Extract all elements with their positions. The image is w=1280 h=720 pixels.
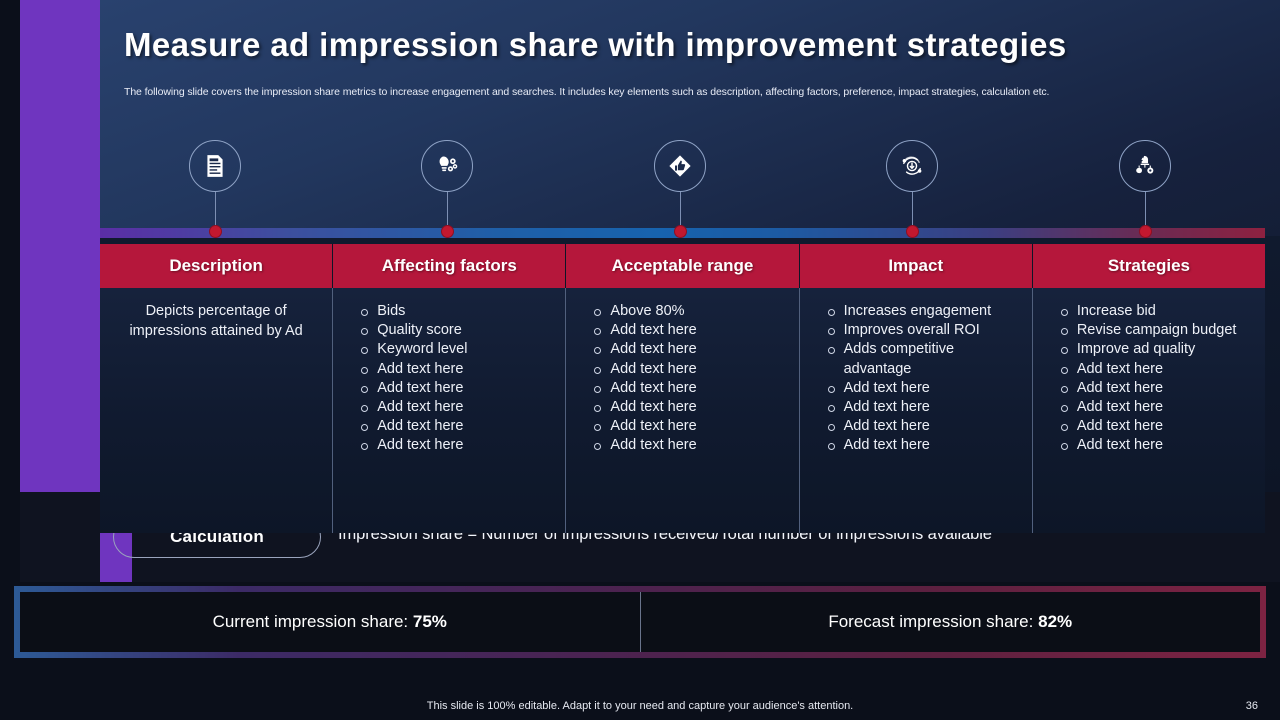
table-header-description: Description [100,244,333,288]
list-item: Revise campaign budget [1061,321,1255,340]
list-item: Bids [361,302,555,321]
chess-strategy-icon [1119,140,1171,192]
list-item: Quality score [361,321,555,340]
stat-forecast-label: Forecast impression share: [828,612,1033,632]
stat-current-impression-share: Current impression share: 75% [20,592,641,652]
impact-list: Increases engagementImproves overall ROI… [810,302,1022,456]
list-item: Add text here [1061,417,1255,436]
timeline-marker-dot [674,225,687,238]
strategies-list: Increase bidRevise campaign budgetImprov… [1043,302,1255,456]
list-item: Add text here [828,436,1022,455]
table-cell-affecting-factors: BidsQuality scoreKeyword levelAdd text h… [333,288,566,533]
table-cell-strategies: Increase bidRevise campaign budgetImprov… [1033,288,1265,533]
table-header-strategies: Strategies [1033,244,1265,288]
list-item: Add text here [594,398,788,417]
icon-node-impact[interactable] [882,140,942,238]
timeline-marker-dot [441,225,454,238]
affecting-factors-list: BidsQuality scoreKeyword levelAdd text h… [343,302,555,456]
lightbulb-gears-icon [421,140,473,192]
page-title: Measure ad impression share with improve… [124,26,1224,64]
list-item: Increases engagement [828,302,1022,321]
stat-current-label: Current impression share: [213,612,409,632]
table-body-row: Depicts percentage of impressions attain… [100,288,1265,533]
list-item: Increase bid [1061,302,1255,321]
icon-stem [215,192,216,228]
list-item: Add text here [594,417,788,436]
timeline-marker-dot [1139,225,1152,238]
icon-stem [447,192,448,228]
list-item: Add text here [361,417,555,436]
stat-forecast-impression-share: Forecast impression share: 82% [641,592,1261,652]
list-item: Add text here [594,321,788,340]
table-header-acceptable-range: Acceptable range [566,244,799,288]
table-header-impact: Impact [800,244,1033,288]
metrics-table: Description Affecting factors Acceptable… [100,244,1265,533]
list-item: Add text here [828,417,1022,436]
list-item: Add text here [594,360,788,379]
table-cell-impact: Increases engagementImproves overall ROI… [800,288,1033,533]
icon-node-strategies[interactable] [1115,140,1175,238]
list-item: Add text here [1061,398,1255,417]
stat-forecast-value: 82% [1038,612,1072,632]
list-item: Improves overall ROI [828,321,1022,340]
target-orbit-icon [886,140,938,192]
thumbs-up-diamond-icon [654,140,706,192]
table-header-row: Description Affecting factors Acceptable… [100,244,1265,288]
list-item: Add text here [594,436,788,455]
list-item: Adds competitive advantage [828,340,1022,378]
icon-stem [1145,192,1146,228]
timeline-marker-dot [209,225,222,238]
description-text: Depicts percentage of impressions attain… [110,302,322,342]
left-purple-accent-rail [20,0,100,492]
list-item: Add text here [1061,379,1255,398]
list-item: Add text here [594,379,788,398]
footer-note: This slide is 100% editable. Adapt it to… [0,700,1280,712]
list-item: Add text here [361,398,555,417]
list-item: Add text here [828,398,1022,417]
slide-canvas: Measure ad impression share with improve… [0,0,1280,720]
list-item: Add text here [361,436,555,455]
icon-stem [680,192,681,228]
stats-bar: Current impression share: 75% Forecast i… [14,586,1266,658]
list-item: Add text here [1061,436,1255,455]
table-cell-acceptable-range: Above 80%Add text hereAdd text hereAdd t… [566,288,799,533]
page-number: 36 [1246,700,1258,712]
page-subtitle: The following slide covers the impressio… [124,86,1234,98]
icon-node-description[interactable] [185,140,245,238]
list-item: Keyword level [361,340,555,359]
timeline-marker-dot [906,225,919,238]
stats-bar-inner: Current impression share: 75% Forecast i… [20,592,1260,652]
list-item: Add text here [1061,360,1255,379]
list-item: Improve ad quality [1061,340,1255,359]
table-cell-description: Depicts percentage of impressions attain… [100,288,333,533]
table-header-affecting-factors: Affecting factors [333,244,566,288]
icon-stem [912,192,913,228]
icon-timeline-row [100,140,1265,240]
document-report-icon [189,140,241,192]
list-item: Add text here [594,340,788,359]
icon-node-affecting-factors[interactable] [417,140,477,238]
stat-current-value: 75% [413,612,447,632]
list-item: Add text here [361,379,555,398]
acceptable-range-list: Above 80%Add text hereAdd text hereAdd t… [576,302,788,456]
list-item: Add text here [361,360,555,379]
icon-node-acceptable-range[interactable] [650,140,710,238]
list-item: Above 80% [594,302,788,321]
list-item: Add text here [828,379,1022,398]
